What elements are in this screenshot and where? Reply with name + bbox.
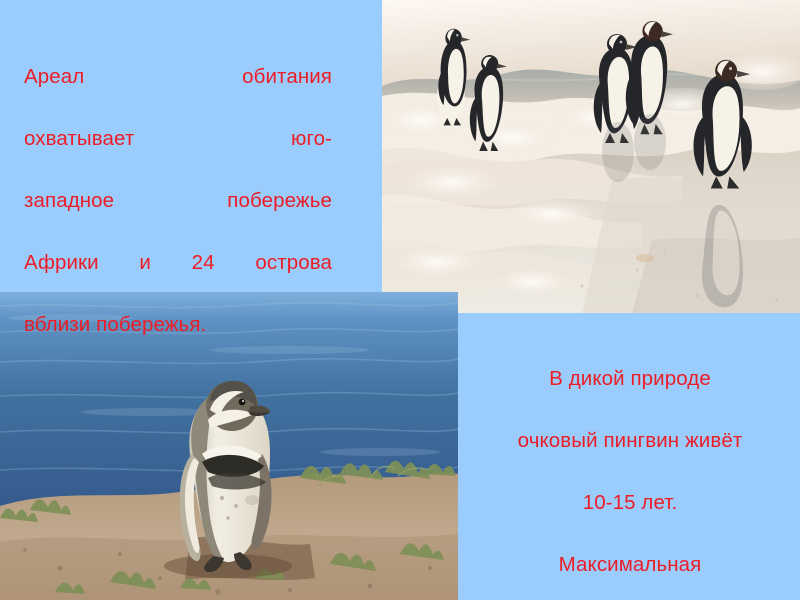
habitat-line: западное побережье <box>24 185 332 216</box>
habitat-line: Ареал обитания <box>24 61 332 92</box>
lifespan-line: Максимальная <box>470 549 790 580</box>
beach-penguins-illustration <box>382 0 800 313</box>
habitat-line: Африки и 24 острова <box>24 247 332 278</box>
habitat-line: вблизи побережья. <box>24 309 332 340</box>
habitat-line: охватывает юго- <box>24 123 332 154</box>
lifespan-line: 10-15 лет. <box>470 487 790 518</box>
photo-beach-penguins <box>382 0 800 313</box>
lifespan-text-block: В дикой природе очковый пингвин живёт 10… <box>470 332 790 600</box>
habitat-text-block: Ареал обитания охватывает юго- западное … <box>24 30 332 371</box>
lifespan-line: В дикой природе <box>470 363 790 394</box>
lifespan-line: очковый пингвин живёт <box>470 425 790 456</box>
slide: Ареал обитания охватывает юго- западное … <box>0 0 800 600</box>
